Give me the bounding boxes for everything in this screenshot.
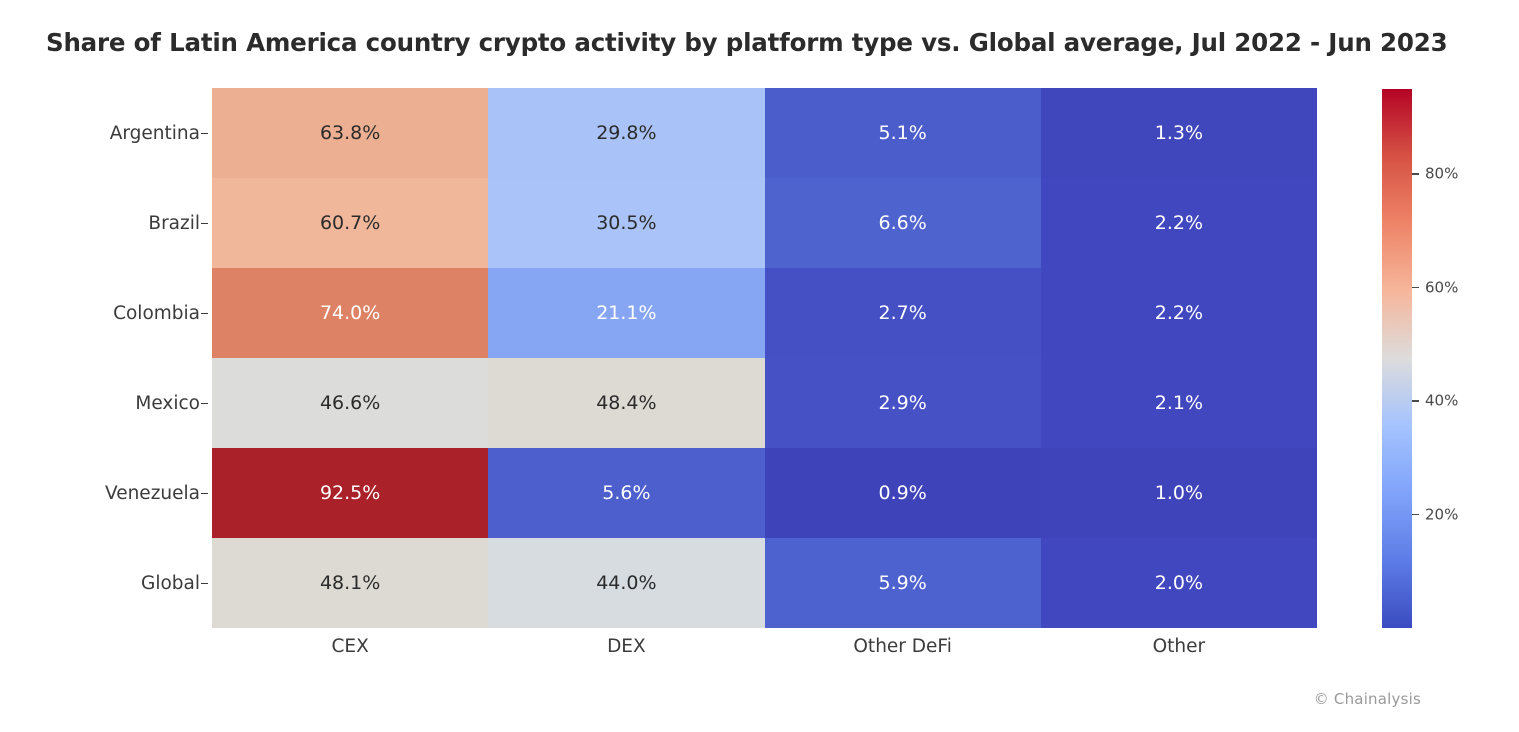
- heatmap-cell-value: 74.0%: [320, 302, 380, 324]
- y-axis-tick-mark: [201, 583, 208, 584]
- heatmap-cell-value: 60.7%: [320, 212, 380, 234]
- heatmap-cell-value: 6.6%: [878, 212, 926, 234]
- heatmap-cell[interactable]: 92.5%: [212, 448, 488, 538]
- heatmap-cell[interactable]: 2.9%: [765, 358, 1041, 448]
- heatmap-cell[interactable]: 21.1%: [488, 268, 764, 358]
- colorbar-tick-mark: [1412, 173, 1419, 174]
- heatmap-cell-value: 2.1%: [1155, 392, 1203, 414]
- colorbar-tick-label: 60%: [1425, 278, 1458, 296]
- heatmap-cell[interactable]: 2.2%: [1041, 178, 1317, 268]
- colorbar-gradient: [1382, 89, 1412, 628]
- y-axis-tick-label: Argentina: [110, 88, 200, 178]
- heatmap-cell[interactable]: 2.2%: [1041, 268, 1317, 358]
- y-axis-tick-mark: [201, 313, 208, 314]
- footer-credit: © Chainalysis: [1314, 690, 1421, 708]
- y-axis-tick-label: Venezuela: [105, 448, 200, 538]
- colorbar-tick-mark: [1412, 514, 1419, 515]
- x-axis-tick-label: Other: [1041, 628, 1317, 668]
- colorbar-tick-mark: [1412, 400, 1419, 401]
- y-axis-tick-label: Colombia: [113, 268, 200, 358]
- heatmap-cell-value: 5.9%: [878, 572, 926, 594]
- x-axis-tick-label: DEX: [488, 628, 764, 668]
- y-axis-tick-mark: [201, 133, 208, 134]
- y-axis: ArgentinaBrazilColombiaMexicoVenezuelaGl…: [0, 88, 212, 628]
- heatmap-cell[interactable]: 5.1%: [765, 88, 1041, 178]
- heatmap-cell[interactable]: 6.6%: [765, 178, 1041, 268]
- colorbar-tick-labels: 20%40%60%80%: [1412, 89, 1512, 628]
- heatmap-grid: 63.8%29.8%5.1%1.3%60.7%30.5%6.6%2.2%74.0…: [212, 88, 1317, 628]
- heatmap-plot-area: 63.8%29.8%5.1%1.3%60.7%30.5%6.6%2.2%74.0…: [212, 88, 1317, 628]
- y-axis-tick-mark: [201, 403, 208, 404]
- heatmap-cell[interactable]: 30.5%: [488, 178, 764, 268]
- colorbar: [1382, 89, 1412, 628]
- heatmap-cell-value: 44.0%: [596, 572, 656, 594]
- heatmap-cell-value: 29.8%: [596, 122, 656, 144]
- heatmap-cell-value: 48.4%: [596, 392, 656, 414]
- x-axis-tick-label: CEX: [212, 628, 488, 668]
- heatmap-cell[interactable]: 1.3%: [1041, 88, 1317, 178]
- heatmap-cell[interactable]: 48.1%: [212, 538, 488, 628]
- heatmap-cell-value: 0.9%: [878, 482, 926, 504]
- heatmap-cell[interactable]: 63.8%: [212, 88, 488, 178]
- y-axis-tick-label: Brazil: [148, 178, 200, 268]
- heatmap-cell-value: 63.8%: [320, 122, 380, 144]
- heatmap-cell[interactable]: 60.7%: [212, 178, 488, 268]
- x-axis-tick-label: Other DeFi: [765, 628, 1041, 668]
- heatmap-cell[interactable]: 44.0%: [488, 538, 764, 628]
- heatmap-cell-value: 92.5%: [320, 482, 380, 504]
- heatmap-cell[interactable]: 2.1%: [1041, 358, 1317, 448]
- heatmap-cell[interactable]: 5.6%: [488, 448, 764, 538]
- heatmap-cell-value: 5.6%: [602, 482, 650, 504]
- heatmap-cell-value: 48.1%: [320, 572, 380, 594]
- chart-page: Share of Latin America country crypto ac…: [0, 0, 1519, 732]
- heatmap-cell-value: 2.2%: [1155, 212, 1203, 234]
- heatmap-cell-value: 46.6%: [320, 392, 380, 414]
- y-axis-tick-label: Mexico: [135, 358, 200, 448]
- heatmap-cell[interactable]: 1.0%: [1041, 448, 1317, 538]
- colorbar-tick-label: 40%: [1425, 392, 1458, 410]
- heatmap-cell[interactable]: 46.6%: [212, 358, 488, 448]
- colorbar-tick-label: 20%: [1425, 505, 1458, 523]
- heatmap-cell-value: 2.7%: [878, 302, 926, 324]
- heatmap-cell-value: 2.2%: [1155, 302, 1203, 324]
- heatmap-cell-value: 1.3%: [1155, 122, 1203, 144]
- heatmap-cell-value: 2.9%: [878, 392, 926, 414]
- heatmap-cell-value: 21.1%: [596, 302, 656, 324]
- y-axis-tick-mark: [201, 223, 208, 224]
- heatmap-cell[interactable]: 29.8%: [488, 88, 764, 178]
- heatmap-cell[interactable]: 2.0%: [1041, 538, 1317, 628]
- page-title: Share of Latin America country crypto ac…: [46, 28, 1486, 57]
- colorbar-tick-label: 80%: [1425, 165, 1458, 183]
- colorbar-tick-mark: [1412, 287, 1419, 288]
- heatmap-cell[interactable]: 48.4%: [488, 358, 764, 448]
- y-axis-tick-mark: [201, 493, 208, 494]
- heatmap-cell-value: 30.5%: [596, 212, 656, 234]
- heatmap-cell-value: 5.1%: [878, 122, 926, 144]
- heatmap-cell-value: 2.0%: [1155, 572, 1203, 594]
- heatmap-cell[interactable]: 5.9%: [765, 538, 1041, 628]
- heatmap-cell-value: 1.0%: [1155, 482, 1203, 504]
- heatmap-cell[interactable]: 74.0%: [212, 268, 488, 358]
- heatmap-cell[interactable]: 0.9%: [765, 448, 1041, 538]
- x-axis: CEXDEXOther DeFiOther: [212, 628, 1317, 668]
- heatmap-cell[interactable]: 2.7%: [765, 268, 1041, 358]
- y-axis-tick-label: Global: [141, 538, 200, 628]
